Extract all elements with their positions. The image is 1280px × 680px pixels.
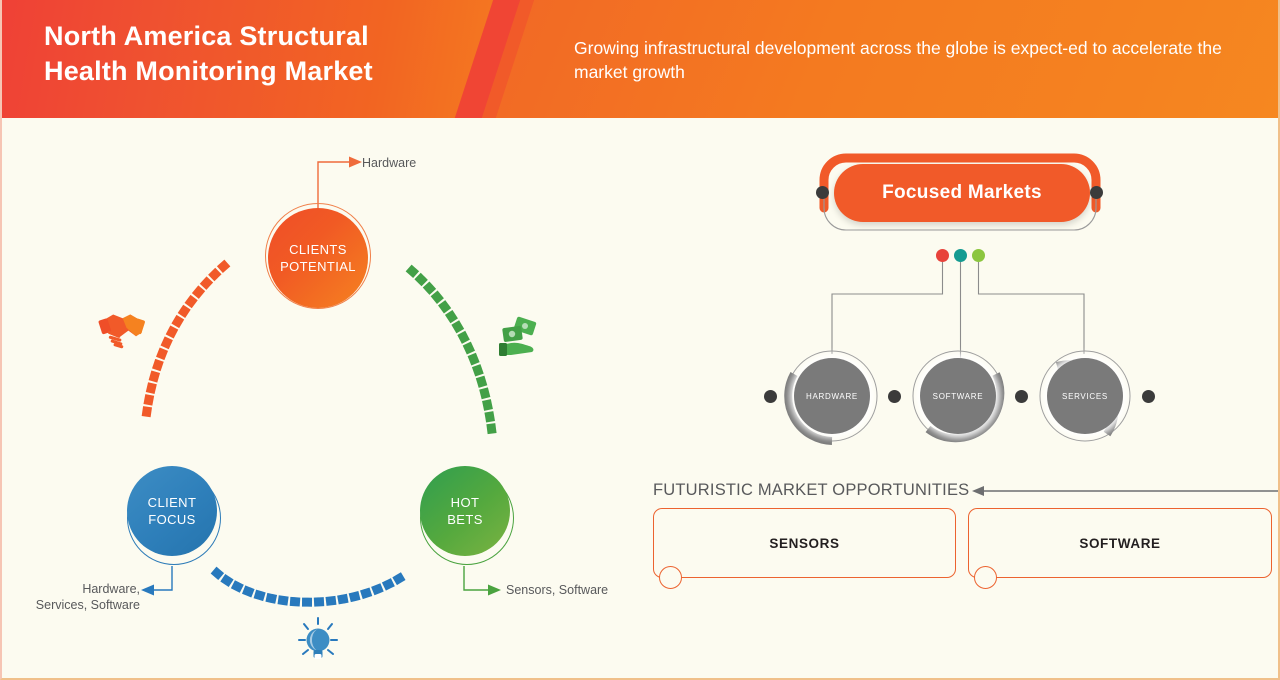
leaf-label-hot-bets: Sensors, Software (506, 582, 608, 598)
hot-bets-line2: BETS (447, 511, 483, 528)
connector-clients-hardware (318, 157, 362, 209)
header-subtitle: Growing infrastructural development acro… (574, 36, 1234, 84)
lightbulb-icon (299, 618, 337, 659)
focused-markets-dot-right (1090, 186, 1103, 199)
handshake-icon (98, 314, 145, 346)
hot-bets-line1: HOT (451, 494, 480, 511)
client-focus-bubble[interactable]: CLIENT FOCUS (127, 466, 217, 556)
opportunity-card-sensors-label: SENSORS (769, 536, 839, 551)
focused-markets-title[interactable]: Focused Markets (834, 164, 1090, 222)
segment-hardware[interactable]: HARDWARE (782, 346, 882, 446)
opportunities-title: FUTURISTIC MARKET OPPORTUNITIES (653, 481, 969, 500)
page-title-line2: Health Monitoring Market (44, 54, 474, 89)
leaf-label-client-focus: Hardware, Services, Software (10, 581, 140, 613)
opportunity-knob-sensors (659, 566, 682, 589)
connector-clientfocus-leaf (141, 566, 172, 596)
page-title-line1: North America Structural (44, 19, 474, 54)
segment-services-label: SERVICES (1047, 358, 1123, 434)
clients-potential-line1: CLIENTS (289, 241, 347, 258)
segment-software[interactable]: SOFTWARE (908, 346, 1008, 446)
page-title: North America Structural Health Monitori… (44, 19, 474, 89)
orange-dotted-arc (146, 266, 224, 418)
infographic-canvas: North America Structural Health Monitori… (0, 0, 1280, 680)
focused-markets-dot-left (816, 186, 829, 199)
leaf-label-hardware: Hardware (362, 155, 416, 171)
segment-services-dot-right (1142, 390, 1155, 403)
segment-software-label: SOFTWARE (920, 358, 996, 434)
connector-hotbets-leaf (464, 566, 501, 596)
segment-services[interactable]: SERVICES (1035, 346, 1135, 446)
header-banner: North America Structural Health Monitori… (2, 0, 1280, 118)
leaf-label-client-focus-line1: Hardware, (10, 581, 140, 597)
blue-dotted-arc (217, 573, 400, 602)
clients-potential-bubble[interactable]: CLIENTS POTENTIAL (268, 208, 368, 308)
client-focus-line2: FOCUS (148, 511, 196, 528)
client-focus-line1: CLIENT (148, 494, 197, 511)
software-dot[interactable] (954, 249, 967, 262)
opportunity-knob-software (974, 566, 997, 589)
opportunity-card-software-label: SOFTWARE (1079, 536, 1160, 551)
segment-software-dot-right (1015, 390, 1028, 403)
services-dot[interactable] (972, 249, 985, 262)
leaf-label-client-focus-line2: Services, Software (10, 597, 140, 613)
hot-bets-bubble[interactable]: HOT BETS (420, 466, 510, 556)
segment-hardware-dot-right (888, 390, 901, 403)
clients-potential-line2: POTENTIAL (280, 258, 356, 275)
opportunity-card-sensors[interactable]: SENSORS (653, 508, 956, 578)
opportunity-card-software[interactable]: SOFTWARE (968, 508, 1272, 578)
hardware-dot[interactable] (936, 249, 949, 262)
segment-hardware-dot-left (764, 390, 777, 403)
green-dotted-arc (412, 271, 492, 433)
opportunities-arrow (970, 483, 1280, 503)
segment-hardware-label: HARDWARE (794, 358, 870, 434)
money-in-hand-icon (499, 316, 537, 356)
